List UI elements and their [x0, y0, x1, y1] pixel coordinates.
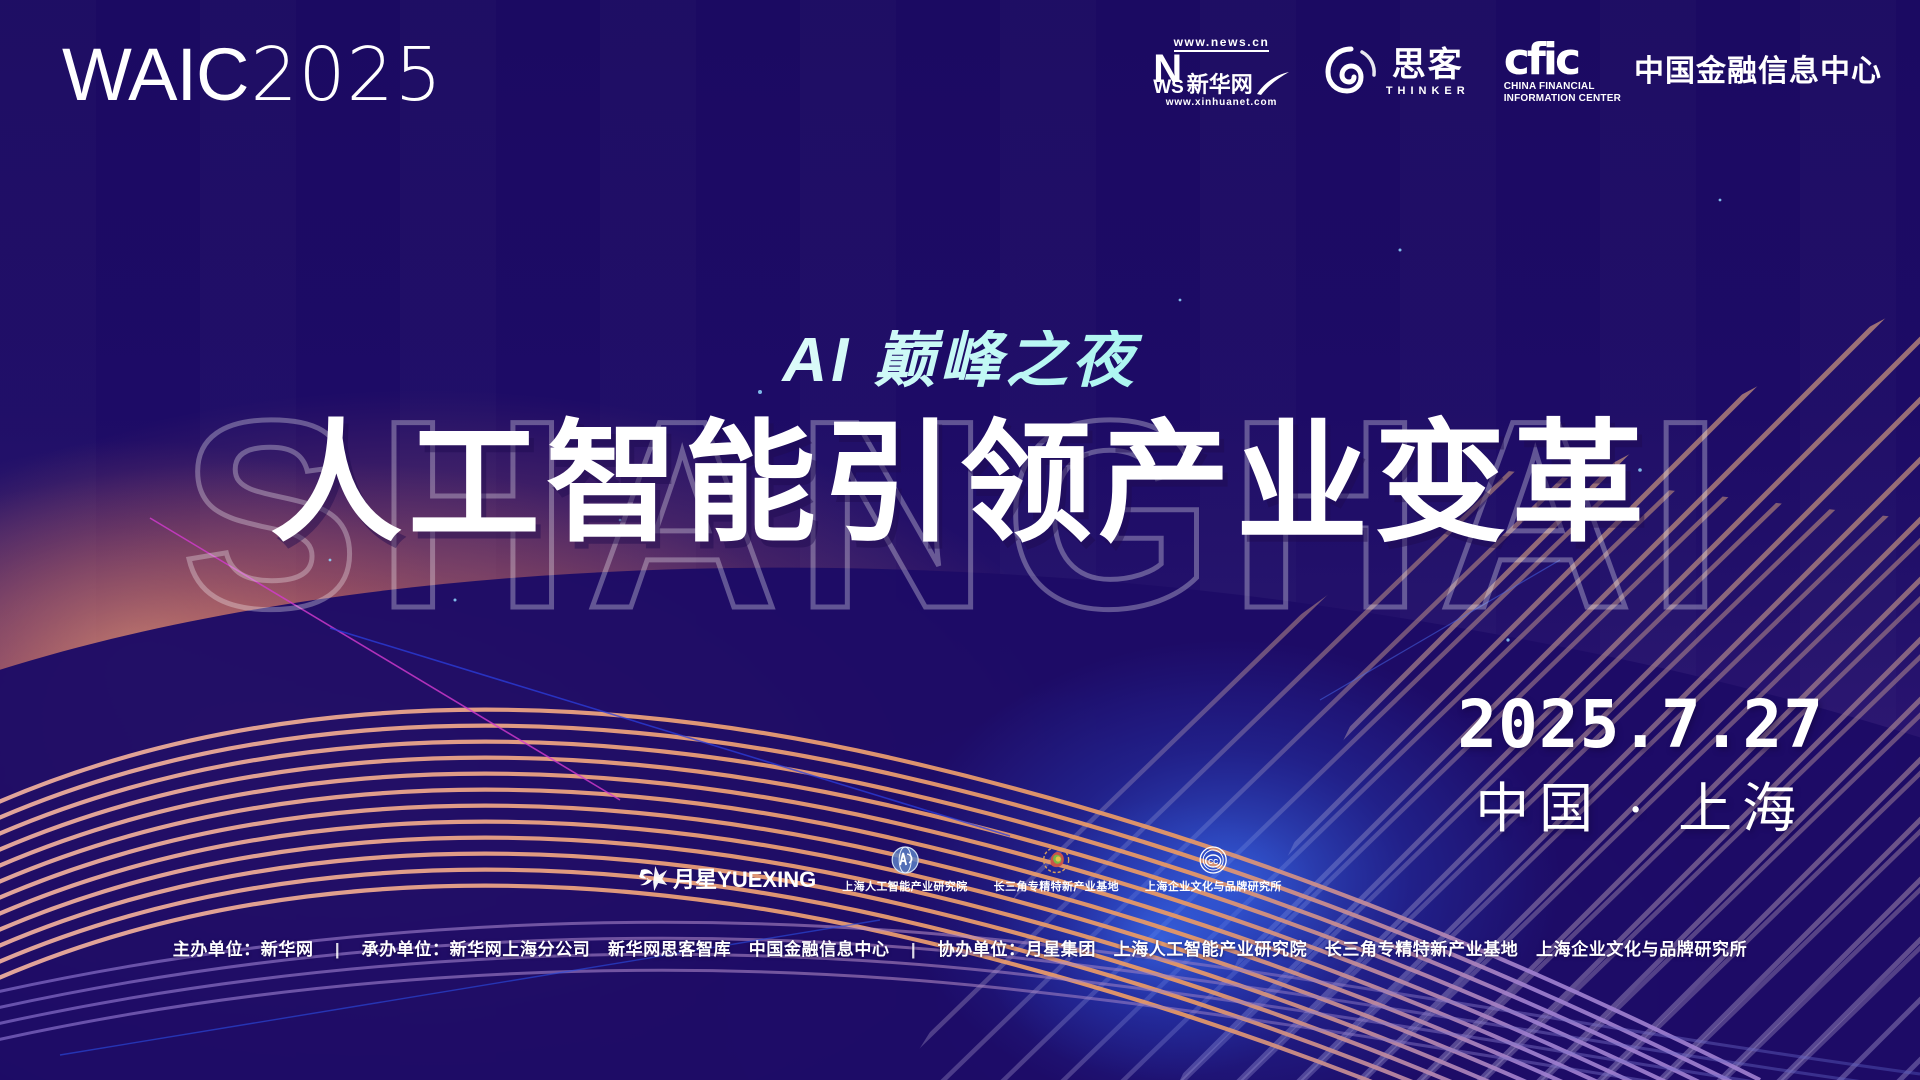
thinker-text-block: 思客 THINKER	[1386, 48, 1470, 97]
thinker-name-cn: 思客	[1392, 48, 1464, 82]
credit-host: 主办单位：新华网	[170, 940, 317, 959]
sponsor-name-yangtze-delta-base: 长三角专精特新产业基地	[994, 878, 1119, 894]
xinhua-letter-n: N WS	[1153, 53, 1184, 95]
credit-separator-2: |	[898, 940, 929, 959]
shanghai-brand-institute-seal-icon: CC	[1198, 845, 1228, 875]
event-date: 2025.7.27	[1457, 692, 1824, 758]
yuexing-star-icon	[638, 863, 668, 893]
cfic-wordmark-block: cfic CHINA FINANCIAL INFORMATION CENTER	[1504, 40, 1621, 105]
sponsor-logo-strip: 月星YUEXING 上海人工智能产业研究院	[638, 845, 1282, 894]
sponsor-name-shanghai-ai-institute: 上海人工智能产业研究院	[842, 878, 967, 894]
credits-bar: 主办单位：新华网 | 承办单位：新华网上海分公司 新华网思客智库 中国金融信息中…	[0, 935, 1920, 960]
thinker-logo: 思客 THINKER	[1324, 45, 1470, 99]
event-subtitle: AI 巅峰之夜	[0, 330, 1920, 392]
poster-header: WAIC 2025 www.news.cn N WS 新华网 www.xinhu…	[0, 0, 1920, 140]
thinker-name-en: THINKER	[1386, 85, 1470, 97]
thinker-spiral-icon	[1324, 45, 1378, 99]
sponsor-logo-yuexing: 月星YUEXING	[638, 862, 816, 894]
xinhua-swoosh-icon	[1256, 70, 1290, 96]
shanghai-ai-institute-globe-icon	[890, 845, 920, 875]
waic-logo: WAIC 2025	[62, 38, 443, 112]
credit-organizer: 承办单位：新华网上海分公司 新华网思客智库 中国金融信息中心	[359, 940, 893, 959]
sponsor-logo-shanghai-brand-institute: CC 上海企业文化与品牌研究所	[1145, 845, 1282, 894]
sponsor-logo-shanghai-ai-institute: 上海人工智能产业研究院	[842, 845, 967, 894]
cfic-name-cn: 中国金融信息中心	[1634, 57, 1882, 87]
waic-year-text: 2025	[250, 38, 442, 112]
sponsor-name-yuexing: 月星YUEXING	[673, 862, 816, 894]
xinhua-wordmark: N WS 新华网	[1153, 53, 1290, 95]
credit-coorganizer: 协办单位：月星集团 上海人工智能产业研究院 长三角专精特新产业基地 上海企业文化…	[935, 940, 1751, 959]
cfic-wordmark: cfic	[1504, 40, 1621, 80]
xinhua-url-bottom: www.xinhuanet.com	[1166, 97, 1278, 109]
event-location: 中国 · 上海	[1457, 782, 1824, 836]
cfic-name-en-line1: CHINA FINANCIAL	[1504, 81, 1621, 93]
sponsor-logo-yangtze-delta-base: 长三角专精特新产业基地	[994, 845, 1119, 894]
svg-text:CC: CC	[1208, 859, 1218, 866]
cfic-name-en-line2: INFORMATION CENTER	[1504, 93, 1621, 105]
event-date-location: 2025.7.27 中国 · 上海	[1457, 692, 1824, 836]
waic-brand-text: WAIC	[62, 38, 248, 112]
sponsor-name-shanghai-brand-institute: 上海企业文化与品牌研究所	[1145, 878, 1282, 894]
event-main-title: 人工智能引领产业变革	[0, 414, 1920, 554]
xinhua-url-top: www.news.cn	[1174, 36, 1270, 52]
partner-logos: www.news.cn N WS 新华网 www.xinhuanet.com	[1153, 36, 1882, 109]
xinhua-name-cn: 新华网	[1187, 74, 1253, 96]
credit-separator-1: |	[322, 940, 353, 959]
yangtze-delta-base-emblem-icon	[1041, 845, 1071, 875]
xinhua-logo: www.news.cn N WS 新华网 www.xinhuanet.com	[1153, 36, 1290, 109]
xinhua-ws-glyph: WS	[1153, 80, 1184, 96]
cfic-logo: cfic CHINA FINANCIAL INFORMATION CENTER …	[1504, 40, 1882, 105]
event-poster: SHANGHAI WAIC 2025 www.news.cn N WS 新华网	[0, 0, 1920, 1080]
hero-title-block: AI 巅峰之夜 人工智能引领产业变革	[0, 330, 1920, 554]
